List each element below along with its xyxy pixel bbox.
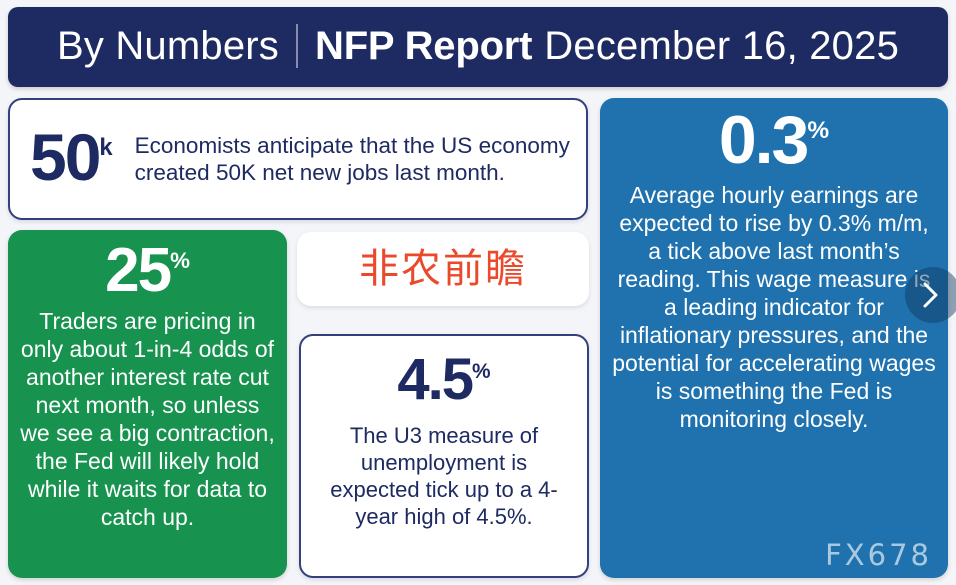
stat-number-odds: 25 — [105, 236, 170, 305]
stat-value-wages: 0.3% — [612, 108, 936, 173]
title-card-chinese: 非农前瞻 — [297, 232, 589, 306]
infographic-page: By Numbers NFP Report December 16, 2025 … — [0, 0, 956, 585]
watermark-logo: FX678 — [825, 538, 932, 572]
stat-number-unemployment: 4.5 — [397, 347, 472, 412]
header-report-label: NFP Report — [315, 24, 532, 69]
header-title-group: NFP Report December 16, 2025 — [315, 24, 899, 69]
stat-unit-wages: % — [807, 117, 829, 144]
stat-value-odds: 25% — [18, 242, 277, 301]
stat-number-wages: 0.3 — [719, 102, 808, 178]
stat-card-rate-cut-odds: 25% Traders are pricing in only about 1-… — [8, 230, 287, 578]
header-divider — [296, 24, 298, 68]
header-banner: By Numbers NFP Report December 16, 2025 — [8, 7, 948, 87]
header-date-label: December 16, 2025 — [544, 24, 899, 69]
stat-description-jobs: Economists anticipate that the US econom… — [135, 132, 572, 187]
stat-unit-unemployment: % — [472, 360, 491, 383]
stat-description-unemployment: The U3 measure of unemployment is expect… — [315, 423, 573, 530]
stat-description-odds: Traders are pricing in only about 1-in-4… — [18, 307, 277, 531]
chinese-title-text: 非农前瞻 — [359, 249, 527, 289]
header-by-numbers-label: By Numbers — [57, 24, 279, 69]
stat-number-jobs: 50 — [30, 120, 99, 194]
stat-card-unemployment: 4.5% The U3 measure of unemployment is e… — [299, 334, 589, 578]
stat-card-jobs: 50k Economists anticipate that the US ec… — [8, 98, 588, 220]
stat-value-jobs: 50k — [30, 126, 113, 189]
header-content: By Numbers NFP Report December 16, 2025 — [57, 24, 899, 69]
stat-unit-odds: % — [170, 248, 190, 273]
stat-value-unemployment: 4.5% — [315, 352, 573, 407]
stat-unit-jobs: k — [99, 134, 112, 161]
chevron-right-icon — [924, 280, 942, 310]
stat-description-wages: Average hourly earnings are expected to … — [612, 181, 936, 433]
stat-card-wages: 0.3% Average hourly earnings are expecte… — [600, 98, 948, 578]
next-slide-button[interactable] — [905, 267, 956, 323]
